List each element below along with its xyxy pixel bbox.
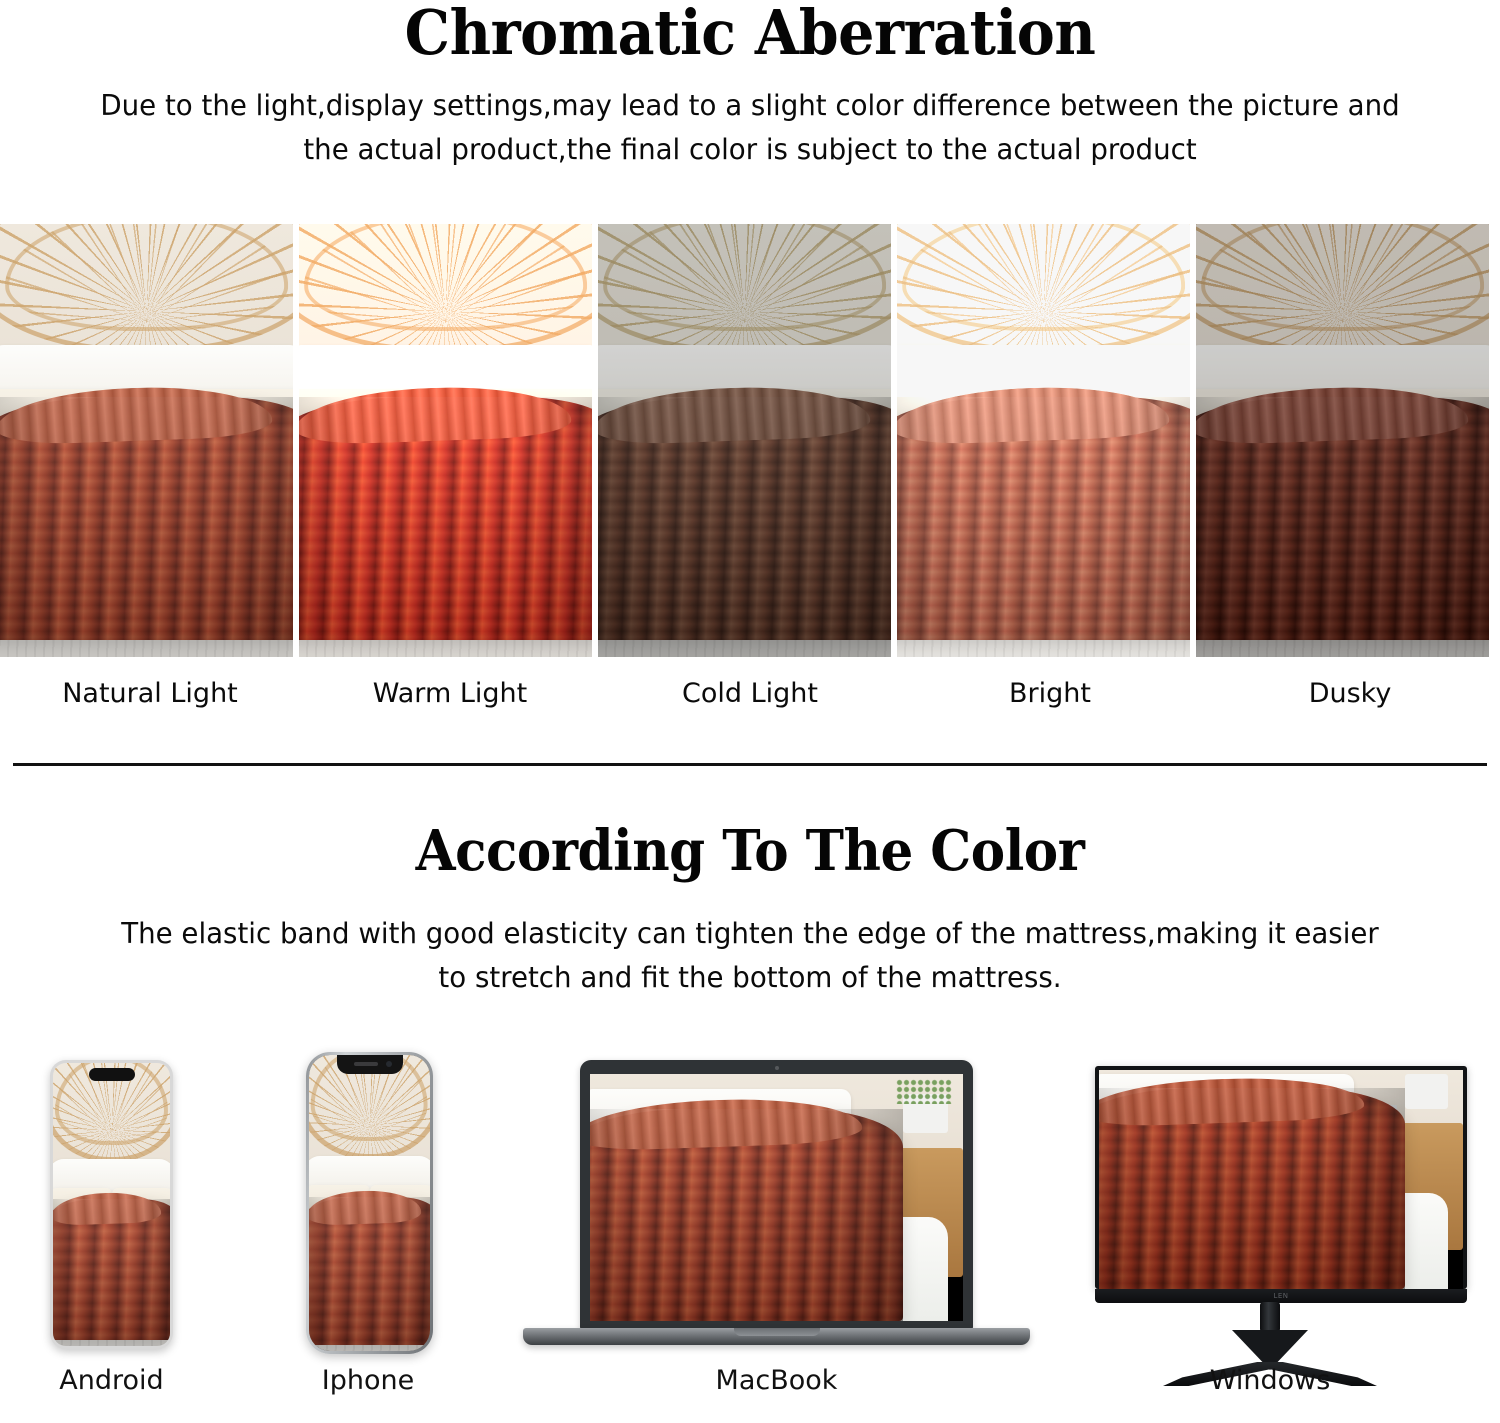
rattan-headboard-icon [897, 224, 1190, 353]
macbook-screen [590, 1074, 963, 1321]
chromatic-description-line-1: Due to the light,display settings,may le… [23, 84, 1478, 128]
caption-natural-light: Natural Light [0, 678, 300, 709]
throw-blanket [598, 397, 891, 639]
caption-cold-light: Cold Light [600, 678, 900, 709]
throw-blanket [309, 1197, 430, 1345]
rattan-headboard-icon [299, 224, 592, 353]
monitor-chin: LEN [1095, 1289, 1467, 1303]
bedroom-scene-image [299, 224, 592, 657]
monitor-screen [1099, 1070, 1463, 1289]
swatch-panel-warm-light[interactable] [299, 224, 592, 657]
caption-dusky: Dusky [1200, 678, 1500, 709]
throw-blanket [1099, 1088, 1405, 1289]
camera-notch-icon [89, 1068, 135, 1081]
vase [1405, 1074, 1449, 1109]
rattan-headboard-icon [0, 224, 293, 353]
device-label-macbook: MacBook [513, 1365, 1040, 1396]
caption-bright: Bright [900, 678, 1200, 709]
monitor-neck [1260, 1302, 1280, 1332]
iphone-body [306, 1052, 433, 1354]
throw-blanket [1196, 397, 1489, 639]
device-label-windows: Windows [1040, 1365, 1500, 1396]
throw-blanket [299, 397, 592, 639]
color-description-line-1: The elastic band with good elasticity ca… [23, 912, 1478, 956]
bedroom-scene-image [590, 1074, 963, 1321]
caption-warm-light: Warm Light [300, 678, 600, 709]
lighting-swatch-strip [0, 224, 1500, 657]
bedroom-scene-image [897, 224, 1190, 657]
swatch-panel-bright[interactable] [897, 224, 1190, 657]
device-mockup-row: Android Iphone [0, 1040, 1500, 1423]
device-mockup-android[interactable]: Android [0, 1040, 223, 1423]
bedroom-scene-image [53, 1063, 170, 1346]
throw-blanket [53, 1199, 170, 1341]
swatch-panel-natural-light[interactable] [0, 224, 293, 657]
bedroom-scene-image [1099, 1070, 1463, 1289]
android-screen [53, 1063, 170, 1346]
monitor-frame [1095, 1066, 1467, 1289]
bedroom-scene-image [0, 224, 293, 657]
android-phone-body [50, 1060, 173, 1349]
page-title-chromatic-aberration: Chromatic Aberration [60, 0, 1440, 64]
monitor-brand-logo: LEN [1273, 1292, 1288, 1300]
throw-blanket [0, 397, 293, 639]
macbook-lid [580, 1060, 973, 1330]
device-mockup-windows[interactable]: LEN Windows [1040, 1040, 1500, 1423]
iphone-screen [309, 1055, 430, 1351]
section-divider [13, 763, 1487, 766]
rattan-headboard-icon [598, 224, 891, 353]
chromatic-description-line-2: the actual product,the final color is su… [23, 128, 1478, 172]
lighting-caption-row: Natural Light Warm Light Cold Light Brig… [0, 678, 1500, 709]
bedroom-scene-image [598, 224, 891, 657]
bedroom-scene-image [309, 1055, 430, 1351]
device-mockup-macbook[interactable]: MacBook [513, 1040, 1040, 1423]
page-title-according-to-the-color: According To The Color [60, 822, 1440, 880]
bedroom-scene-image [1196, 224, 1489, 657]
device-label-android: Android [0, 1365, 223, 1396]
swatch-panel-dusky[interactable] [1196, 224, 1489, 657]
throw-blanket [590, 1109, 903, 1321]
webcam-icon [775, 1066, 779, 1070]
camera-notch-icon [337, 1055, 403, 1074]
rattan-headboard-icon [1196, 224, 1489, 353]
device-mockup-iphone[interactable]: Iphone [223, 1040, 513, 1423]
plant-icon [896, 1079, 952, 1104]
macbook-base [523, 1328, 1030, 1345]
color-description-line-2: to stretch and fit the bottom of the mat… [23, 956, 1478, 1000]
swatch-panel-cold-light[interactable] [598, 224, 891, 657]
throw-blanket [897, 397, 1190, 639]
device-label-iphone: Iphone [223, 1365, 513, 1396]
